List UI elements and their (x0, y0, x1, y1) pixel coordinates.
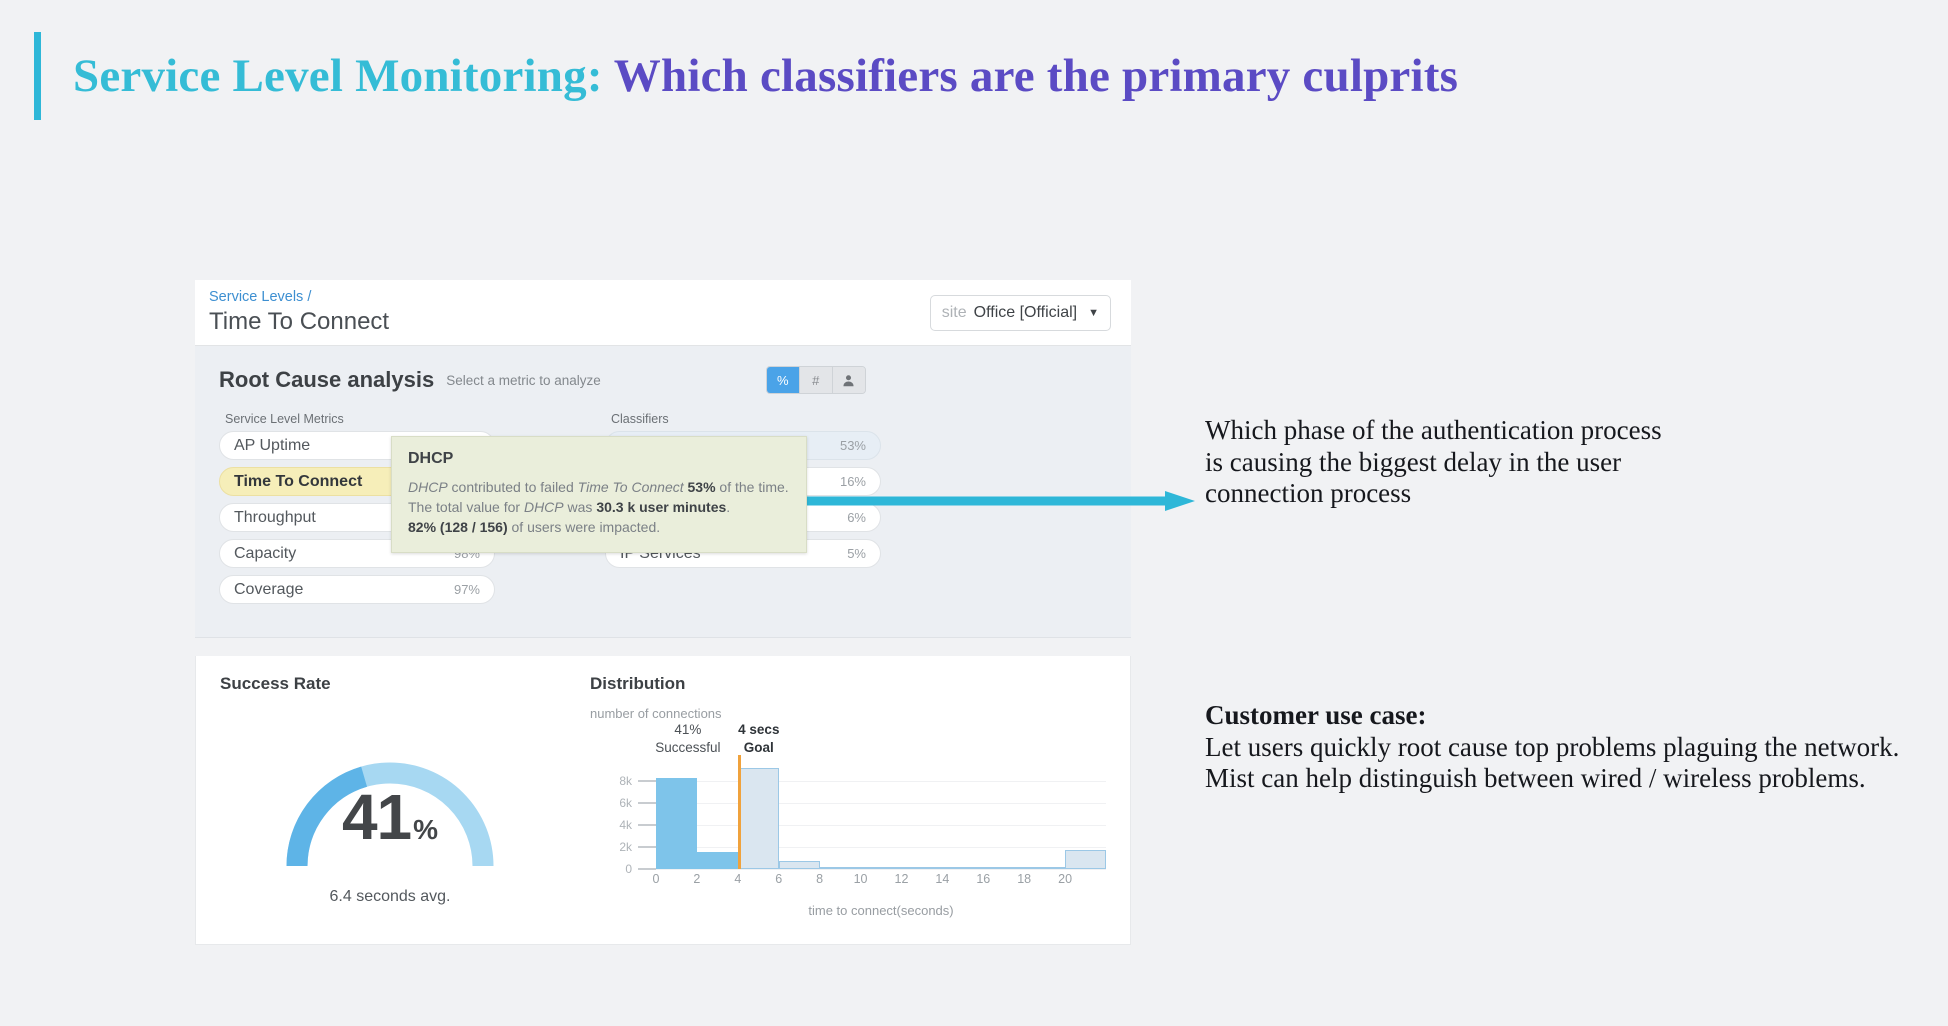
annotation-successful-value: 41% (645, 721, 731, 739)
metric-label: Coverage (234, 581, 303, 599)
success-rate-gauge: 41% (275, 714, 505, 874)
y-tick-label: 8k (619, 774, 632, 788)
y-tick-label: 0 (625, 862, 632, 876)
distribution-y-caption: number of connections (590, 706, 1106, 721)
tooltip-l2-e: . (726, 499, 730, 515)
breadcrumb[interactable]: Service Levels / (209, 289, 389, 306)
usecase-heading: Customer use case: (1205, 700, 1925, 732)
x-axis-label: time to connect(seconds) (656, 903, 1106, 918)
tooltip-l1-e: of the time. (716, 479, 789, 495)
usecase-note: Customer use case: Let users quickly roo… (1205, 700, 1925, 795)
breadcrumb-wrap: Service Levels / Time To Connect (209, 289, 389, 335)
tooltip-l1-b: contributed to failed (448, 479, 578, 495)
gauge-number: 41 (342, 781, 411, 853)
y-tick: 8k (619, 774, 656, 788)
x-tick-0: 0 (653, 872, 660, 886)
y-tick: 6k (619, 796, 656, 810)
annotation-successful: 41% Successful (645, 721, 731, 756)
metrics-column-header: Service Level Metrics (219, 412, 495, 426)
title-part-1: Service Level Monitoring: (73, 50, 614, 102)
gauge-value-text: 41% (275, 780, 505, 854)
mode-toggle-group[interactable]: % # (766, 366, 866, 394)
x-tick-20: 20 (1058, 872, 1072, 886)
distribution-plot: 02k4k6k8k (590, 759, 1106, 869)
y-tick: 0 (625, 862, 656, 876)
y-tick-dash (638, 846, 656, 848)
mode-button-count[interactable]: # (800, 367, 833, 393)
question-note: Which phase of the authentication proces… (1205, 415, 1665, 510)
x-tick-4: 4 (734, 872, 741, 886)
x-tick-18: 18 (1017, 872, 1031, 886)
app-header: Service Levels / Time To Connect site Of… (195, 280, 1131, 346)
metrics-detail-panel: Success Rate 41% 6.4 seconds avg. Distri… (195, 656, 1131, 945)
bars-area (656, 759, 1106, 869)
site-selector-label: site (942, 304, 967, 322)
metric-row-coverage[interactable]: Coverage 97% (219, 575, 495, 604)
y-tick-dash (638, 780, 656, 782)
metric-label: AP Uptime (234, 437, 310, 455)
metric-value: 97% (454, 582, 480, 597)
y-tick-dash (638, 868, 656, 870)
success-rate-title: Success Rate (220, 674, 560, 694)
tooltip-l2-c: was (564, 499, 597, 515)
tooltip-line-3: 82% (128 / 156) of users were impacted. (408, 518, 790, 538)
tooltip-l3-b: of users were impacted. (508, 519, 661, 535)
y-axis: 02k4k6k8k (590, 759, 656, 869)
tooltip-l1-a: DHCP (408, 479, 448, 495)
tooltip-l1-d: 53% (684, 479, 716, 495)
gauge-unit: % (413, 814, 438, 845)
annotation-goal-label: Goal (724, 739, 794, 757)
y-tick-label: 4k (619, 818, 632, 832)
y-tick: 2k (619, 840, 656, 854)
gridline (656, 825, 1106, 826)
x-tick-2: 2 (693, 872, 700, 886)
distribution-block: Distribution number of connections 41% S… (590, 674, 1106, 918)
app-window: Service Levels / Time To Connect site Of… (195, 280, 1131, 945)
tooltip-l2-a: The total value for (408, 499, 524, 515)
mode-button-users[interactable] (833, 367, 865, 393)
annotation-goal: 4 secs Goal (724, 721, 794, 756)
goal-marker-line (738, 755, 741, 869)
classifier-value: 5% (847, 546, 866, 561)
bar-20+[interactable] (1065, 850, 1106, 869)
bar-6-8[interactable] (779, 861, 820, 869)
usecase-body: Let users quickly root cause top problem… (1205, 732, 1925, 795)
y-tick-dash (638, 824, 656, 826)
app-page-title: Time To Connect (209, 308, 389, 336)
slide-title: Service Level Monitoring: Which classifi… (34, 32, 1458, 120)
tooltip-l2-d: 30.3 k user minutes (596, 499, 726, 515)
bar-4-6[interactable] (738, 768, 779, 869)
x-tick-14: 14 (935, 872, 949, 886)
y-tick-dash (638, 802, 656, 804)
dhcp-tooltip: DHCP DHCP contributed to failed Time To … (391, 436, 807, 553)
metric-label: Capacity (234, 545, 296, 563)
y-tick-label: 6k (619, 796, 632, 810)
page-title: Service Level Monitoring: Which classifi… (73, 49, 1458, 103)
title-accent-bar (34, 32, 41, 120)
x-tick-16: 16 (976, 872, 990, 886)
chart-annotations: 41% Successful 4 secs Goal (660, 721, 1106, 757)
metric-label: Throughput (234, 509, 316, 527)
tooltip-l1-c: Time To Connect (578, 479, 684, 495)
tooltip-line-1: DHCP contributed to failed Time To Conne… (408, 478, 790, 498)
tooltip-l2-b: DHCP (524, 499, 564, 515)
rca-subtitle: Select a metric to analyze (446, 373, 601, 388)
annotation-successful-label: Successful (645, 739, 731, 757)
gauge-caption: 6.4 seconds avg. (220, 888, 560, 906)
bar-2-4[interactable] (697, 852, 738, 869)
tooltip-l3-a: 82% (128 / 156) (408, 519, 508, 535)
classifiers-column-header: Classifiers (605, 412, 881, 426)
classifier-value: 16% (840, 474, 866, 489)
callout-arrow (765, 489, 1195, 513)
gridline (656, 803, 1106, 804)
person-icon (842, 374, 855, 387)
x-axis: 02468101214161820 (656, 869, 1106, 889)
x-tick-6: 6 (775, 872, 782, 886)
gridline (656, 847, 1106, 848)
title-part-2: Which classifiers are the primary culpri… (614, 50, 1458, 102)
success-rate-block: Success Rate 41% 6.4 seconds avg. (220, 674, 560, 918)
x-tick-8: 8 (816, 872, 823, 886)
bar-0-2[interactable] (656, 778, 697, 869)
y-tick-label: 2k (619, 840, 632, 854)
chevron-down-icon: ▼ (1088, 307, 1099, 319)
tooltip-line-2: The total value for DHCP was 30.3 k user… (408, 498, 790, 518)
rca-header: Root Cause analysis Select a metric to a… (219, 366, 1107, 394)
x-tick-10: 10 (854, 872, 868, 886)
site-selector-dropdown[interactable]: site Office [Official] ▼ (930, 295, 1111, 331)
site-selector-value: Office [Official] (974, 304, 1077, 322)
y-tick: 4k (619, 818, 656, 832)
metric-label: Time To Connect (234, 473, 362, 491)
classifier-value: 53% (840, 438, 866, 453)
tooltip-title: DHCP (408, 450, 790, 468)
x-tick-12: 12 (895, 872, 909, 886)
gridline (656, 781, 1106, 782)
mode-button-percent[interactable]: % (767, 367, 800, 393)
rca-title: Root Cause analysis (219, 367, 434, 393)
distribution-title: Distribution (590, 674, 1106, 694)
annotation-goal-value: 4 secs (724, 721, 794, 739)
